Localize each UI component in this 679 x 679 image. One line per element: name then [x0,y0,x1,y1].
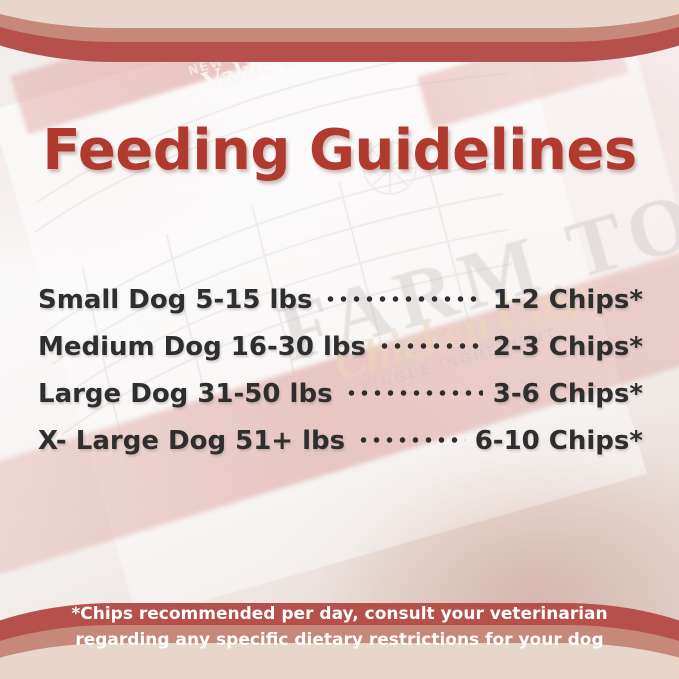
guideline-value: 3-6 Chips* [493,379,643,409]
page-title: Feeding Guidelines [0,118,679,183]
list-item: X- Large Dog 51+ lbs 6-10 Chips* [38,423,643,470]
guideline-label: Medium Dog 16-30 lbs [38,332,366,362]
footer-disclaimer: *Chips recommended per day, consult your… [0,602,679,653]
guideline-label: Small Dog 5-15 lbs [38,285,312,315]
guideline-label: Large Dog 31-50 lbs [38,379,333,409]
dot-leader [324,282,482,308]
feeding-guidelines-graphic: NEW Value Bag FARM TO PET Chicken Chips … [0,0,679,679]
dot-leader [357,423,465,449]
list-item: Small Dog 5-15 lbs 1-2 Chips* [38,282,643,329]
feeding-guidelines-list: Small Dog 5-15 lbs 1-2 Chips* Medium Dog… [38,282,643,470]
dot-leader [345,376,483,402]
list-item: Medium Dog 16-30 lbs 2-3 Chips* [38,329,643,376]
guideline-value: 2-3 Chips* [493,332,643,362]
dot-leader [378,329,483,355]
guideline-value: 1-2 Chips* [493,285,643,315]
guideline-value: 6-10 Chips* [475,426,643,456]
list-item: Large Dog 31-50 lbs 3-6 Chips* [38,376,643,423]
guideline-label: X- Large Dog 51+ lbs [38,426,345,456]
